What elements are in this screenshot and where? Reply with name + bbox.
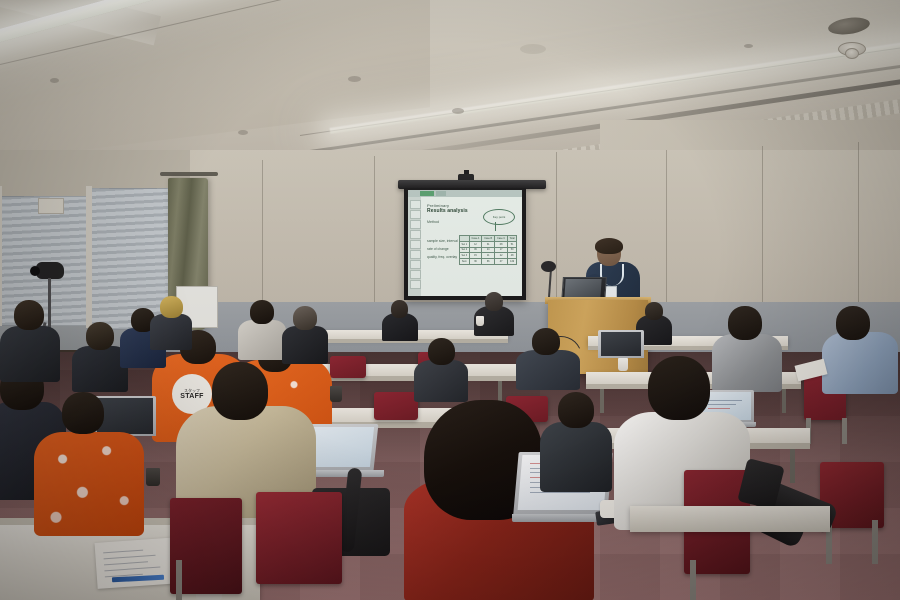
attendee [382, 300, 418, 340]
slide-bullet: Method [427, 220, 439, 224]
wall-plate [38, 198, 64, 214]
attendee [540, 392, 612, 488]
curtain-rod [160, 172, 218, 176]
table-foreground-right [630, 506, 830, 532]
slide-heading: Results analysis [427, 208, 468, 214]
slide-tab-active [420, 191, 434, 196]
attendee [414, 338, 468, 398]
attendee [0, 300, 60, 380]
attendee-blue-shirt [822, 306, 898, 392]
sprinkler-head-icon [845, 48, 859, 59]
slide-tab-inactive [436, 191, 446, 196]
attendee-floral [34, 392, 144, 532]
attendee-blonde [150, 296, 192, 348]
microphone-icon [541, 261, 556, 272]
open-booklet [94, 537, 181, 589]
coffee-cup [146, 468, 160, 486]
slide-callout: Key point [483, 209, 515, 225]
slide-table: Case A Case B Case C Total Set 112 3108 … [459, 235, 517, 265]
slide-content: Preliminary Results analysis Method Key … [421, 197, 522, 296]
coffee-cup [476, 316, 484, 326]
conference-room-photo: Preliminary Results analysis Method Key … [0, 0, 900, 600]
slide-note-1: sample size, interval [427, 239, 458, 243]
attendee [238, 300, 286, 358]
attendee [282, 306, 328, 362]
podium-laptop-screen [564, 279, 601, 298]
ceiling-vent-icon [827, 15, 871, 37]
coffee-cup [330, 386, 342, 402]
slide-note-2: rate of change [427, 247, 449, 251]
slide-note-3: quality, freq. overlay [427, 255, 457, 259]
camera-lens-icon [30, 266, 40, 276]
slide-thumbnail-pane [408, 197, 421, 296]
attendee [516, 328, 580, 384]
slide-callout-line [495, 222, 496, 231]
projection-screen: Preliminary Results analysis Method Key … [408, 190, 522, 296]
table-row: Sum36 6647 149 [460, 259, 517, 265]
attendee [474, 292, 514, 334]
chair[interactable] [256, 492, 342, 584]
video-camera-icon [36, 262, 64, 279]
